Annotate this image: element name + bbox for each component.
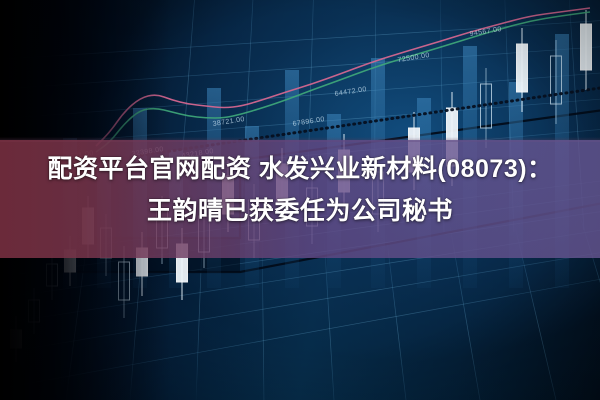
stock-news-graphic: 94567.0072500.0064472.0067896.0038721.00… [0, 0, 600, 400]
headline-text: 配资平台官网配资 水发兴业新材料(08073)： 王韵晴已获委任为公司秘书 [0, 148, 600, 232]
headline-line-1: 配资平台官网配资 水发兴业新材料(08073)： [47, 155, 552, 183]
headline-line-2: 王韵晴已获委任为公司秘书 [0, 190, 600, 232]
